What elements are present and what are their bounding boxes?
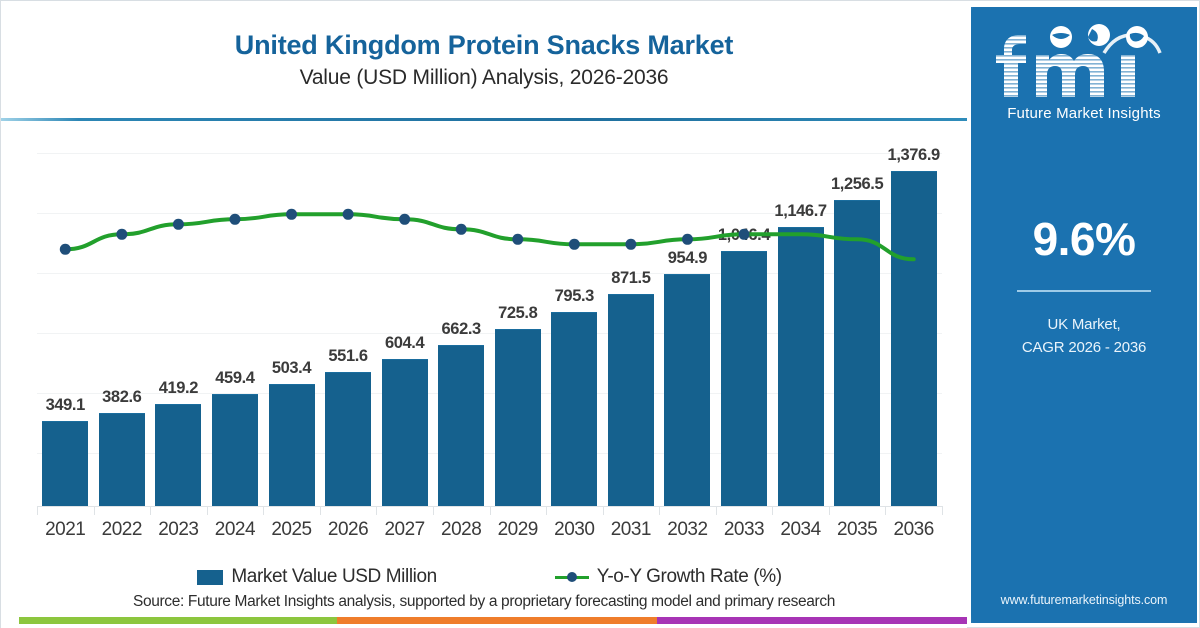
chart-header: United Kingdom Protein Snacks Market Val… <box>1 1 967 119</box>
bar <box>551 312 597 506</box>
x-axis-label: 2028 <box>433 519 490 549</box>
color-strip-bar <box>19 617 967 624</box>
bar-value-label: 1,146.7 <box>774 202 826 221</box>
legend-bar-swatch-icon <box>197 570 223 585</box>
bar-value-label: 551.6 <box>328 347 367 366</box>
bar-slot: 1,256.5 <box>829 141 886 506</box>
bar-slot: 1,046.4 <box>716 141 773 506</box>
axis-tick <box>263 506 264 515</box>
bar-slot: 954.9 <box>659 141 716 506</box>
bar-series: 349.1382.6419.2459.4503.4551.6604.4662.3… <box>37 141 942 506</box>
bar-value-label: 954.9 <box>668 249 707 268</box>
axis-tick <box>320 506 321 515</box>
bar-slot: 725.8 <box>490 141 547 506</box>
header-divider <box>1 118 967 121</box>
bar-slot: 459.4 <box>207 141 264 506</box>
x-axis-label: 2022 <box>94 519 151 549</box>
bar <box>891 171 937 506</box>
cagr-callout: 9.6% UK Market, CAGR 2026 - 2036 <box>971 212 1197 359</box>
x-axis-label: 2029 <box>490 519 547 549</box>
bar-value-label: 1,046.4 <box>718 226 770 245</box>
axis-tick <box>659 506 660 515</box>
x-axis-label: 2033 <box>716 519 773 549</box>
axis-tick <box>94 506 95 515</box>
bar-slot: 1,146.7 <box>772 141 829 506</box>
x-axis-label: 2021 <box>37 519 94 549</box>
fmi-logo-mark-icon <box>986 23 1182 103</box>
bar-value-label: 349.1 <box>46 396 85 415</box>
page-subtitle: Value (USD Million) Analysis, 2026-2036 <box>300 66 669 89</box>
bar <box>608 294 654 506</box>
website-url[interactable]: www.futuremarketinsights.com <box>971 593 1197 607</box>
axis-tick <box>546 506 547 515</box>
bar <box>382 359 428 506</box>
bar <box>664 274 710 506</box>
bar-value-label: 503.4 <box>272 359 311 378</box>
x-axis-label: 2027 <box>376 519 433 549</box>
axis-tick <box>942 506 943 515</box>
axis-tick <box>37 506 38 515</box>
axis-tick <box>603 506 604 515</box>
bar-value-label: 1,376.9 <box>888 146 940 165</box>
purple-strip <box>657 617 967 624</box>
cagr-value: 9.6% <box>1033 212 1136 266</box>
axis-tick <box>150 506 151 515</box>
bar-slot: 419.2 <box>150 141 207 506</box>
infographic-page: United Kingdom Protein Snacks Market Val… <box>0 0 1200 628</box>
x-axis-labels: 2021202220232024202520262027202820292030… <box>37 519 942 549</box>
bar-slot: 871.5 <box>603 141 660 506</box>
cagr-divider <box>1017 290 1151 292</box>
cagr-market-label: UK Market, <box>1047 314 1120 337</box>
green-strip <box>19 617 337 624</box>
axis-tick <box>772 506 773 515</box>
bar <box>42 421 88 506</box>
x-axis-label: 2024 <box>207 519 264 549</box>
axis-tick <box>716 506 717 515</box>
source-note: Source: Future Market Insights analysis,… <box>1 593 967 611</box>
bar-value-label: 604.4 <box>385 334 424 353</box>
chart-legend: Market Value USD Million Y-o-Y Growth Ra… <box>37 564 942 590</box>
axis-tick <box>885 506 886 515</box>
axis-tick <box>376 506 377 515</box>
bar-value-label: 459.4 <box>215 369 254 388</box>
bar-value-label: 382.6 <box>102 388 141 407</box>
bar-slot: 662.3 <box>433 141 490 506</box>
bar-value-label: 662.3 <box>442 320 481 339</box>
brand-sidebar: Future Market Insights 9.6% UK Market, C… <box>971 7 1197 623</box>
axis-tick <box>433 506 434 515</box>
fmi-logo-text: Future Market Insights <box>1007 105 1161 122</box>
orange-strip <box>337 617 657 624</box>
legend-item-bar: Market Value USD Million <box>197 566 436 588</box>
x-axis-label: 2030 <box>546 519 603 549</box>
bar-slot: 349.1 <box>37 141 94 506</box>
bar-slot: 604.4 <box>376 141 433 506</box>
chart-panel: United Kingdom Protein Snacks Market Val… <box>1 1 967 628</box>
bar-slot: 503.4 <box>263 141 320 506</box>
bar-value-label: 725.8 <box>498 304 537 323</box>
x-axis-label: 2023 <box>150 519 207 549</box>
bar <box>269 384 315 506</box>
bar <box>834 200 880 506</box>
bar <box>155 404 201 506</box>
bar-value-label: 871.5 <box>611 269 650 288</box>
bar-value-label: 795.3 <box>555 287 594 306</box>
bar <box>212 394 258 506</box>
x-axis-label: 2026 <box>320 519 377 549</box>
legend-line-swatch-icon <box>555 570 589 584</box>
bar-value-label: 419.2 <box>159 379 198 398</box>
bar <box>99 413 145 506</box>
page-title: United Kingdom Protein Snacks Market <box>235 31 733 61</box>
axis-tick <box>207 506 208 515</box>
x-axis-label: 2031 <box>603 519 660 549</box>
x-axis-label: 2025 <box>263 519 320 549</box>
bar <box>778 227 824 506</box>
plot-area: 349.1382.6419.2459.4503.4551.6604.4662.3… <box>37 141 942 506</box>
axis-tick <box>829 506 830 515</box>
bar <box>438 345 484 506</box>
x-axis-label: 2034 <box>772 519 829 549</box>
bar-slot: 551.6 <box>320 141 377 506</box>
bar-slot: 795.3 <box>546 141 603 506</box>
bar <box>325 372 371 506</box>
x-axis-label: 2035 <box>829 519 886 549</box>
bar <box>495 329 541 506</box>
x-axis-label: 2036 <box>885 519 942 549</box>
fmi-logo: Future Market Insights <box>971 17 1197 127</box>
bar-slot: 1,376.9 <box>885 141 942 506</box>
bar-slot: 382.6 <box>94 141 151 506</box>
cagr-period-label: CAGR 2026 - 2036 <box>1022 337 1146 360</box>
axis-tick <box>490 506 491 515</box>
bar <box>721 251 767 506</box>
x-axis-label: 2032 <box>659 519 716 549</box>
legend-item-line: Y-o-Y Growth Rate (%) <box>555 566 782 588</box>
bar-value-label: 1,256.5 <box>831 175 883 194</box>
legend-bar-label: Market Value USD Million <box>231 566 436 588</box>
legend-line-label: Y-o-Y Growth Rate (%) <box>597 566 782 588</box>
